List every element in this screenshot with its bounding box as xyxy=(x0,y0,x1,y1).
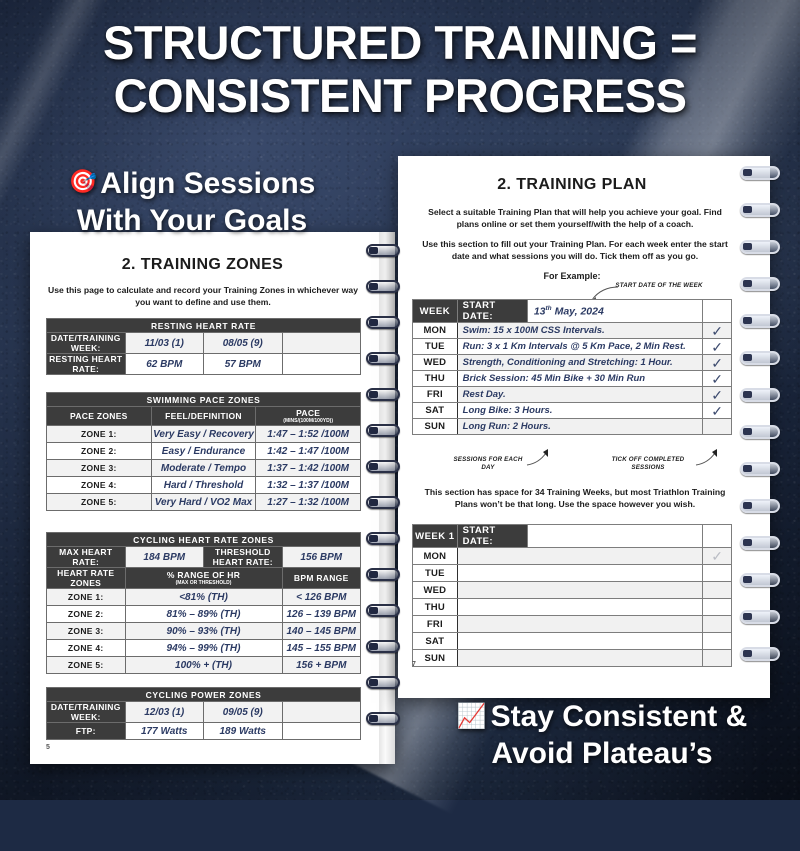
ex-row-5-tick[interactable]: ✓ xyxy=(703,403,732,419)
right-notebook-page: 2. TRAINING PLAN Select a suitable Train… xyxy=(398,156,770,698)
ex-row-4-session[interactable]: Rest Day. xyxy=(457,387,703,403)
wk1-row-5-session[interactable] xyxy=(457,633,703,650)
bottom-banner-line-1: 📈Stay Consistent & xyxy=(412,698,792,735)
annotation-arrow-tick-off xyxy=(694,448,720,468)
wk1-row-5-day: SAT xyxy=(413,633,458,650)
for-example-label: For Example: xyxy=(398,271,746,281)
ex-row-6-session[interactable]: Long Run: 2 Hours. xyxy=(457,419,703,435)
chrz-row0-zone: ZONE 1: xyxy=(47,589,126,606)
wk1-row-1-tick[interactable] xyxy=(703,565,732,582)
left-page-intro: Use this page to calculate and record yo… xyxy=(42,285,364,308)
cpz-row1-c2[interactable]: 189 Watts xyxy=(204,723,283,740)
wk1-week-label: WEEK 1 xyxy=(413,525,458,548)
chrz-maxhr-label: MAX HEART RATE: xyxy=(47,547,126,568)
left-page-number: 5 xyxy=(46,744,50,751)
wk1-row-0-day: MON xyxy=(413,548,458,565)
spz-row1-feel[interactable]: Easy / Endurance xyxy=(151,443,256,460)
spz-row3-feel[interactable]: Hard / Threshold xyxy=(151,477,256,494)
left-page-title: 2. TRAINING ZONES xyxy=(30,256,375,274)
ex-row-0-session[interactable]: Swim: 15 x 100M CSS Intervals. xyxy=(457,323,703,339)
ex-row-3-session[interactable]: Brick Session: 45 Min Bike + 30 Min Run xyxy=(457,371,703,387)
wk1-row-0-session[interactable] xyxy=(457,548,703,565)
chrz-row1-bpm[interactable]: 126 – 139 BPM xyxy=(282,606,361,623)
chrz-header: CYCLING HEART RATE ZONES xyxy=(47,533,361,547)
cpz-row0-c1[interactable]: 12/03 (1) xyxy=(125,702,204,723)
annotation-start-date: START DATE OF THE WEEK xyxy=(611,282,707,290)
spz-row0-zone: ZONE 1: xyxy=(47,426,152,443)
chrz-row3-bpm[interactable]: 145 – 155 BPM xyxy=(282,640,361,657)
cpz-row1-label: FTP: xyxy=(47,723,126,740)
wk1-row-2-session[interactable] xyxy=(457,582,703,599)
rhr-row0-label: DATE/TRAINING WEEK: xyxy=(47,333,126,354)
annotation-arrow-sessions xyxy=(525,448,551,468)
wk1-row-5-tick[interactable] xyxy=(703,633,732,650)
right-page-title: 2. TRAINING PLAN xyxy=(398,176,746,194)
chrz-row3-zone: ZONE 4: xyxy=(47,640,126,657)
chrz-thr-value[interactable]: 156 BPM xyxy=(282,547,361,568)
left-notebook-page: 2. TRAINING ZONES Use this page to calcu… xyxy=(30,232,395,764)
ex-header-tick-cell xyxy=(703,300,732,323)
spz-header: SWIMMING PACE ZONES xyxy=(47,393,361,407)
chrz-row2-range[interactable]: 90% – 93% (TH) xyxy=(125,623,282,640)
wk1-row-4-day: FRI xyxy=(413,616,458,633)
ex-row-5-session[interactable]: Long Bike: 3 Hours. xyxy=(457,403,703,419)
wk1-row-3-day: THU xyxy=(413,599,458,616)
wk1-row-3-tick[interactable] xyxy=(703,599,732,616)
chrz-col-1: % RANGE OF HR (MAX OR THRESHOLD) xyxy=(125,568,282,589)
left-banner-text-1: Align Sessions xyxy=(100,167,315,200)
spz-row2-feel[interactable]: Moderate / Tempo xyxy=(151,460,256,477)
chrz-row3-range[interactable]: 94% – 99% (TH) xyxy=(125,640,282,657)
main-headline: STRUCTURED TRAINING = CONSISTENT PROGRES… xyxy=(0,16,800,122)
ex-row-3-day: THU xyxy=(413,371,458,387)
spz-row0-pace[interactable]: 1:47 – 1:52 /100M xyxy=(256,426,361,443)
wk1-row-4-tick[interactable] xyxy=(703,616,732,633)
ex-start-date-label: START DATE: xyxy=(457,300,527,323)
spz-row1-pace[interactable]: 1:42 – 1:47 /100M xyxy=(256,443,361,460)
chrz-row1-zone: ZONE 2: xyxy=(47,606,126,623)
chrz-row4-range[interactable]: 100% + (TH) xyxy=(125,657,282,674)
spz-row3-pace[interactable]: 1:32 – 1:37 /100M xyxy=(256,477,361,494)
ex-row-2-session[interactable]: Strength, Conditioning and Stretching: 1… xyxy=(457,355,703,371)
spz-row0-feel[interactable]: Very Easy / Recovery xyxy=(151,426,256,443)
cpz-row1-c1[interactable]: 177 Watts xyxy=(125,723,204,740)
headline-line-2: CONSISTENT PROGRESS xyxy=(0,69,800,122)
left-banner-line-2: With Your Goals xyxy=(22,202,362,239)
cpz-row0-c3[interactable] xyxy=(282,702,361,723)
ex-row-2-day: WED xyxy=(413,355,458,371)
right-page-number: 7 xyxy=(412,661,416,668)
ex-start-date-num: 13 xyxy=(534,305,546,317)
rhr-row1-label: RESTING HEART RATE: xyxy=(47,354,126,375)
bottom-banner-line-2: Avoid Plateau’s xyxy=(412,735,792,772)
spz-row4-zone: ZONE 5: xyxy=(47,494,152,511)
wk1-row-1-day: TUE xyxy=(413,565,458,582)
cpz-row1-c3[interactable] xyxy=(282,723,361,740)
rhr-header: RESTING HEART RATE xyxy=(47,319,361,333)
chrz-col-2: BPM RANGE xyxy=(282,568,361,589)
wk1-start-date-label: START DATE: xyxy=(457,525,527,548)
ex-row-6-day: SUN xyxy=(413,419,458,435)
ex-row-3-tick[interactable]: ✓ xyxy=(703,371,732,387)
spz-col-2-label: PACE xyxy=(296,408,320,418)
wk1-row-6-session[interactable] xyxy=(457,650,703,667)
rhr-row0-c2[interactable]: 08/05 (9) xyxy=(204,333,283,354)
left-banner-line-1: 🎯Align Sessions xyxy=(22,163,362,202)
wk1-row-0-tick[interactable]: ✓ xyxy=(703,548,732,565)
ex-row-1-tick[interactable]: ✓ xyxy=(703,339,732,355)
spz-col-0: PACE ZONES xyxy=(47,407,152,426)
cpz-row0-label: DATE/TRAINING WEEK: xyxy=(47,702,126,723)
spz-row2-pace[interactable]: 1:37 – 1:42 /100M xyxy=(256,460,361,477)
headline-line-1: STRUCTURED TRAINING = xyxy=(0,16,800,69)
chrz-row4-zone: ZONE 5: xyxy=(47,657,126,674)
ex-week-label: WEEK xyxy=(413,300,458,323)
right-page-intro-2: Use this section to fill out your Traini… xyxy=(416,238,734,262)
chrz-col-0: HEART RATE ZONES xyxy=(47,568,126,589)
spz-row3-zone: ZONE 4: xyxy=(47,477,152,494)
chrz-col-1-sub: (MAX OR THRESHOLD) xyxy=(126,580,282,586)
rhr-row1-c2[interactable]: 57 BPM xyxy=(204,354,283,375)
ex-row-2-tick[interactable]: ✓ xyxy=(703,355,732,371)
chrz-row2-zone: ZONE 3: xyxy=(47,623,126,640)
chrz-col-1-label: % RANGE OF HR xyxy=(167,570,240,580)
wk1-start-date-value[interactable] xyxy=(527,525,702,548)
cpz-header: CYCLING POWER ZONES xyxy=(47,688,361,702)
rhr-row1-c3[interactable] xyxy=(282,354,361,375)
right-page-note: This section has space for 34 Training W… xyxy=(416,486,734,510)
wk1-row-6-day: SUN xyxy=(413,650,458,667)
wk1-row-2-tick[interactable] xyxy=(703,582,732,599)
wk1-row-2-day: WED xyxy=(413,582,458,599)
spz-row4-feel[interactable]: Very Hard / VO2 Max xyxy=(151,494,256,511)
ex-row-0-day: MON xyxy=(413,323,458,339)
wk1-row-4-session[interactable] xyxy=(457,616,703,633)
bottom-banner-text-1: Stay Consistent & xyxy=(491,700,748,733)
wk1-row-3-session[interactable] xyxy=(457,599,703,616)
ex-row-1-day: TUE xyxy=(413,339,458,355)
swimming-pace-zones-table: SWIMMING PACE ZONES PACE ZONES FEEL/DEFI… xyxy=(46,392,361,511)
bottom-banner: 📈Stay Consistent & Avoid Plateau’s xyxy=(412,698,792,772)
week1-training-table: WEEK 1 START DATE: MON ✓ TUE WED xyxy=(412,524,732,667)
chrz-row1-range[interactable]: 81% – 89% (TH) xyxy=(125,606,282,623)
wk1-header-tick-cell xyxy=(703,525,732,548)
spz-row1-zone: ZONE 2: xyxy=(47,443,152,460)
spz-row2-zone: ZONE 3: xyxy=(47,460,152,477)
ex-row-5-day: SAT xyxy=(413,403,458,419)
chrz-maxhr-value[interactable]: 184 BPM xyxy=(125,547,204,568)
chrz-row0-bpm[interactable]: < 126 BPM xyxy=(282,589,361,606)
spz-col-1: FEEL/DEFINITION xyxy=(151,407,256,426)
chrz-thr-label: THRESHOLD HEART RATE: xyxy=(204,547,283,568)
wk1-row-1-session[interactable] xyxy=(457,565,703,582)
rhr-row0-c3[interactable] xyxy=(282,333,361,354)
cycling-power-zones-table: CYCLING POWER ZONES DATE/TRAINING WEEK: … xyxy=(46,687,361,740)
ex-start-date-rest: May, 2024 xyxy=(552,305,604,317)
spz-row4-pace[interactable]: 1:27 – 1:32 /100M xyxy=(256,494,361,511)
dart-target-icon: 🎯 xyxy=(69,168,98,194)
ex-row-4-day: FRI xyxy=(413,387,458,403)
chart-increasing-icon: 📈 xyxy=(457,703,487,730)
cycling-heart-rate-zones-table: CYCLING HEART RATE ZONES MAX HEART RATE:… xyxy=(46,532,361,674)
wk1-row-6-tick[interactable] xyxy=(703,650,732,667)
chrz-row0-range[interactable]: <81% (TH) xyxy=(125,589,282,606)
cpz-row0-c2[interactable]: 09/05 (9) xyxy=(204,702,283,723)
ex-row-1-session[interactable]: Run: 3 x 1 Km Intervals @ 5 Km Pace, 2 M… xyxy=(457,339,703,355)
ex-row-6-tick[interactable] xyxy=(703,419,732,435)
ex-row-4-tick[interactable]: ✓ xyxy=(703,387,732,403)
example-training-week-table: WEEK START DATE: 13th May, 2024 MON Swim… xyxy=(412,299,732,435)
chrz-row2-bpm[interactable]: 140 – 145 BPM xyxy=(282,623,361,640)
resting-heart-rate-table: RESTING HEART RATE DATE/TRAINING WEEK: 1… xyxy=(46,318,361,375)
spz-col-2-sub: (MINS/(100M/100YD)) xyxy=(256,418,360,424)
page-edge-shading xyxy=(379,232,395,764)
ex-start-date-value[interactable]: 13th May, 2024 xyxy=(527,300,702,323)
ex-row-0-tick[interactable]: ✓ xyxy=(703,323,732,339)
chrz-row4-bpm[interactable]: 156 + BPM xyxy=(282,657,361,674)
left-banner: 🎯Align Sessions With Your Goals xyxy=(22,163,362,239)
spz-col-2: PACE (MINS/(100M/100YD)) xyxy=(256,407,361,426)
rhr-row0-c1[interactable]: 11/03 (1) xyxy=(125,333,204,354)
rhr-row1-c1[interactable]: 62 BPM xyxy=(125,354,204,375)
annotation-tick-off: TICK OFF COMPLETED SESSIONS xyxy=(601,456,695,472)
right-page-intro-1: Select a suitable Training Plan that wil… xyxy=(416,206,734,230)
annotation-sessions-each-day: SESSIONS FOR EACH DAY xyxy=(450,456,526,472)
